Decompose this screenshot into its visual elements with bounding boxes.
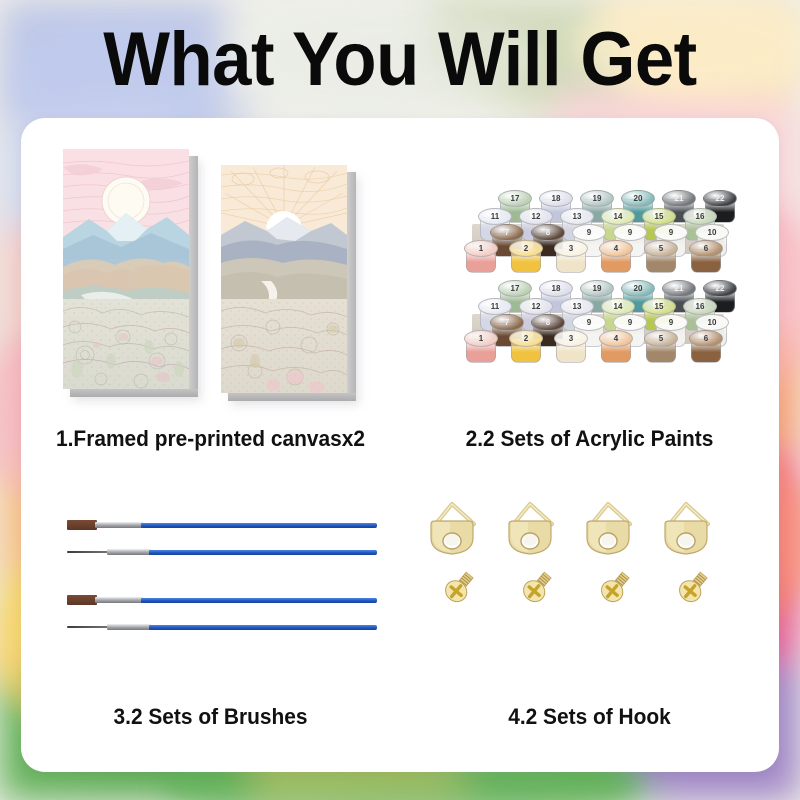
paint-pot-lid: 19 [580, 280, 614, 297]
paint-pot-lid: 11 [478, 298, 512, 315]
hook-screw[interactable] [676, 570, 710, 604]
paint-pot-lid: 12 [519, 208, 553, 225]
paint-pot-lid: 2 [509, 330, 543, 347]
hook-screw[interactable] [442, 570, 476, 604]
paint-set-1: 1718192021221112131415167899910123456 [458, 190, 738, 282]
paint-pot-number: 6 [704, 245, 708, 253]
paint-pot-number: 7 [505, 229, 509, 237]
paint-pot-number: 13 [573, 303, 582, 311]
paint-pot-number: 20 [634, 195, 643, 203]
paint-pot-number: 16 [696, 303, 705, 311]
page-title: What You Will Get [28, 12, 772, 107]
paint-pot-number: 20 [634, 285, 643, 293]
paint-pot[interactable]: 4 [599, 330, 633, 364]
paint-pot[interactable]: 2 [509, 240, 543, 274]
paint-pot-number: 21 [675, 195, 684, 203]
paint-pot-number: 18 [552, 195, 561, 203]
paint-pot-number: 4 [614, 245, 618, 253]
paint-pot-lid: 21 [662, 190, 696, 207]
paint-pot-number: 2 [524, 335, 528, 343]
paint-pot-lid: 15 [642, 298, 676, 315]
paint-pot-lid: 2 [509, 240, 543, 257]
paint-pot-number: 6 [704, 335, 708, 343]
paint-pot-number: 11 [491, 303, 499, 311]
paint-pot-lid: 8 [531, 224, 565, 241]
paint-pot-number: 10 [708, 319, 717, 327]
paint-pot-lid: 22 [703, 190, 737, 207]
paint-pot-lid: 9 [654, 314, 688, 331]
paint-pot[interactable]: 3 [554, 330, 588, 364]
paint-pot[interactable]: 1 [464, 330, 498, 364]
paint-pot-number: 1 [479, 335, 483, 343]
paint-pot-number: 4 [614, 335, 618, 343]
caption-hooks: 4.2 Sets of Hook [409, 704, 769, 730]
paint-pot-lid: 17 [498, 190, 532, 207]
paint-pot-number: 22 [716, 195, 725, 203]
paint-pot-lid: 7 [490, 314, 524, 331]
paint-pot-number: 5 [659, 335, 663, 343]
paint-pot-lid: 12 [519, 298, 553, 315]
paint-pot-lid: 9 [572, 314, 606, 331]
paint-pot-number: 21 [675, 285, 684, 293]
paint-pot-number: 10 [708, 229, 717, 237]
paint-pot-number: 7 [505, 319, 509, 327]
paint-pot-lid: 18 [539, 190, 573, 207]
paint-pot[interactable]: 2 [509, 330, 543, 364]
paint-pot-lid: 20 [621, 280, 655, 297]
paint-pot-lid: 1 [464, 240, 498, 257]
paint-pot-lid: 3 [554, 330, 588, 347]
paint-pot-number: 17 [511, 195, 520, 203]
paint-pot-number: 18 [552, 285, 561, 293]
paint-pot-lid: 1 [464, 330, 498, 347]
paint-pot[interactable]: 5 [644, 240, 678, 274]
paint-pot-number: 14 [614, 213, 623, 221]
paint-pot-lid: 14 [601, 298, 635, 315]
paint-pot-lid: 7 [490, 224, 524, 241]
paint-pot-number: 2 [524, 245, 528, 253]
paint-pot-number: 9 [669, 229, 673, 237]
paint-pot[interactable]: 5 [644, 330, 678, 364]
paint-pot-number: 17 [511, 285, 520, 293]
paint-pot-lid: 22 [703, 280, 737, 297]
paint-pot-lid: 11 [478, 208, 512, 225]
paint-pot-lid: 9 [613, 314, 647, 331]
paint-pot-lid: 5 [644, 240, 678, 257]
hook-1[interactable] [420, 500, 484, 562]
caption-acrylic-paints: 2.2 Sets of Acrylic Paints [409, 426, 769, 452]
paint-pot-number: 12 [532, 303, 541, 311]
caption-brushes: 3.2 Sets of Brushes [30, 704, 390, 730]
paint-pot-number: 15 [655, 213, 664, 221]
paint-pot-lid: 18 [539, 280, 573, 297]
brush-liner-1 [67, 546, 377, 558]
paint-pot-number: 8 [546, 319, 550, 327]
brush-flat-2 [67, 593, 377, 607]
paint-pot[interactable]: 3 [554, 240, 588, 274]
paint-pot-number: 16 [696, 213, 705, 221]
paint-pot-number: 19 [593, 285, 602, 293]
item-hooks: 4.2 Sets of Hook [400, 478, 779, 772]
canvas-right [221, 165, 347, 393]
paint-pot-lid: 17 [498, 280, 532, 297]
paint-pot-lid: 21 [662, 280, 696, 297]
paint-pot-lid: 13 [560, 298, 594, 315]
paint-pot-lid: 3 [554, 240, 588, 257]
brush-liner-2 [67, 621, 377, 633]
item-brushes: 3.2 Sets of Brushes [21, 478, 400, 772]
paint-pot-number: 9 [587, 229, 591, 237]
paint-pot-lid: 4 [599, 330, 633, 347]
caption-framed-canvas: 1.Framed pre-printed canvasx2 [30, 426, 390, 452]
item-acrylic-paints: 1718192021221112131415167899910123456 17… [400, 118, 779, 478]
item-framed-canvas: 1.Framed pre-printed canvasx2 [21, 118, 400, 478]
paint-pot-lid: 6 [689, 330, 723, 347]
paint-pot-lid: 15 [642, 208, 676, 225]
canvas-right-artwork [221, 165, 347, 393]
paint-pot-number: 11 [491, 213, 499, 221]
paint-pot[interactable]: 6 [689, 240, 723, 274]
paint-pot-lid: 9 [613, 224, 647, 241]
paint-pot-lid: 16 [683, 208, 717, 225]
paint-pot-number: 1 [479, 245, 483, 253]
paint-pot[interactable]: 6 [689, 330, 723, 364]
paint-pot-number: 22 [716, 285, 725, 293]
paint-pot-number: 8 [546, 229, 550, 237]
paint-pot-lid: 14 [601, 208, 635, 225]
brush-flat-1 [67, 518, 377, 532]
content-card: 1.Framed pre-printed canvasx2 1718192021… [21, 118, 779, 772]
paint-pot-number: 3 [569, 335, 573, 343]
paint-pot-number: 5 [659, 245, 663, 253]
paint-pot-lid: 5 [644, 330, 678, 347]
paint-pot-number: 19 [593, 195, 602, 203]
paint-pot-lid: 10 [695, 224, 729, 241]
paint-pot-lid: 16 [683, 298, 717, 315]
hook-4[interactable] [654, 500, 718, 562]
paint-pot[interactable]: 1 [464, 240, 498, 274]
paint-set-2: 1718192021221112131415167899910123456 [458, 280, 738, 372]
canvas-left-artwork [63, 149, 189, 389]
paint-pot-number: 3 [569, 245, 573, 253]
hook-screw[interactable] [520, 570, 554, 604]
canvas-left [63, 149, 189, 389]
paint-pot-lid: 19 [580, 190, 614, 207]
paint-pot-lid: 6 [689, 240, 723, 257]
paint-pot-number: 14 [614, 303, 623, 311]
paint-pot-lid: 9 [654, 224, 688, 241]
paint-pot-number: 9 [628, 229, 632, 237]
paint-pot-number: 9 [628, 319, 632, 327]
paint-pot-number: 9 [587, 319, 591, 327]
paint-pot-number: 12 [532, 213, 541, 221]
paint-pot-lid: 20 [621, 190, 655, 207]
paint-pot-lid: 13 [560, 208, 594, 225]
paint-pot-lid: 8 [531, 314, 565, 331]
paint-pot-number: 15 [655, 303, 664, 311]
paint-pot-lid: 4 [599, 240, 633, 257]
paint-pot-lid: 9 [572, 224, 606, 241]
hook-screw[interactable] [598, 570, 632, 604]
hook-3[interactable] [576, 500, 640, 562]
hook-2[interactable] [498, 500, 562, 562]
paint-pot-number: 13 [573, 213, 582, 221]
paint-pot-number: 9 [669, 319, 673, 327]
paint-pot[interactable]: 4 [599, 240, 633, 274]
paint-pot-lid: 10 [695, 314, 729, 331]
